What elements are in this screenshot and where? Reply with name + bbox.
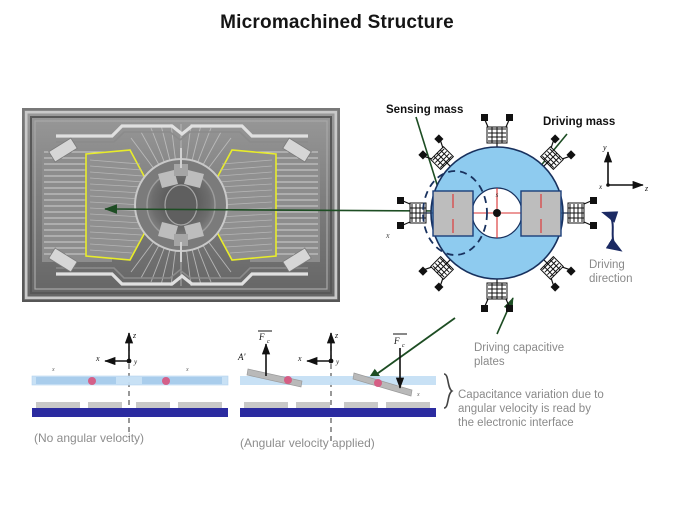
label-sensing-mass: Sensing mass	[386, 104, 463, 116]
svg-text:x: x	[185, 367, 189, 373]
driving-mass-disk	[431, 147, 563, 279]
bl-substrate	[32, 408, 228, 417]
bl-mass-dot-left	[88, 377, 96, 385]
slide-canvas: Micromachined Structure	[0, 0, 674, 506]
svg-text:c: c	[402, 343, 405, 349]
br-axis-label-y: y	[335, 358, 340, 366]
point-label-a-prime: A'	[237, 352, 246, 362]
curly-brace	[444, 374, 452, 408]
label-driving-direction-line2: direction	[589, 272, 632, 286]
bl-axis-label-z: z	[132, 331, 137, 340]
sensing-mass-hub	[472, 188, 522, 238]
bl-axis-label-y: y	[133, 358, 138, 366]
force-label-left: F	[258, 332, 265, 342]
pointer-driving-mass	[529, 134, 567, 180]
page-title: Micromachined Structure	[0, 12, 674, 34]
force-label-right: F	[393, 336, 400, 346]
br-axis-label-z: z	[334, 331, 339, 340]
br-tilted-beam-right	[353, 373, 412, 396]
label-driving-direction: Driving direction	[589, 258, 632, 286]
capacitance-note-line3: the electronic interface	[458, 416, 604, 430]
label-driving-direction-line1: Driving	[589, 258, 632, 272]
force-vector-left: F c	[258, 331, 272, 376]
bl-electrode-pads	[36, 402, 222, 408]
caption-angular-velocity-applied: (Angular velocity applied)	[240, 436, 375, 450]
diagram-no-angular-velocity: z x y x x	[32, 331, 228, 437]
axis-marker-x: x	[385, 231, 390, 240]
caption-no-angular-velocity: (No angular velocity)	[34, 431, 144, 445]
br-axis-label-x: x	[297, 354, 302, 363]
force-vector-right: F c	[393, 334, 407, 388]
label-capacitance-note: Capacitance variation due to angular vel…	[458, 388, 604, 430]
br-substrate	[240, 408, 436, 417]
br-mass-dot-right	[374, 379, 382, 387]
label-driving-plates-line1: Driving capacitive	[474, 341, 564, 355]
svg-text:s: s	[496, 191, 499, 199]
capacitive-plate-right	[521, 191, 561, 236]
axis-triad-structure: y z x	[598, 143, 649, 193]
pointer-capacitance-to-beam	[367, 318, 455, 381]
bl-mass-dot-right	[162, 377, 170, 385]
capacitive-plate-left	[433, 191, 473, 236]
sensing-mass-highlight	[423, 171, 487, 255]
micromachined-sem-photo	[22, 108, 340, 302]
axis-label-y: y	[602, 143, 607, 152]
label-driving-plates-line2: plates	[474, 355, 564, 369]
label-driving-capacitive-plates: Driving capacitive plates	[474, 341, 564, 369]
pointer-sensing-mass	[416, 117, 444, 207]
axis-label-z: z	[644, 184, 649, 193]
pointer-driving-capacitive-plates	[497, 298, 513, 334]
svg-text:x: x	[51, 367, 55, 373]
label-driving-mass: Driving mass	[543, 116, 615, 128]
driving-direction-arrow	[604, 213, 620, 250]
capacitance-note-line1: Capacitance variation due to	[458, 388, 604, 402]
spring-anchor-group	[397, 114, 597, 312]
micromachined-disk-diagram: s x	[385, 114, 597, 312]
svg-text:x: x	[416, 392, 420, 398]
capacitance-note-line2: angular velocity is read by	[458, 402, 604, 416]
br-electrode-pads	[244, 402, 430, 408]
br-mass-dot-left	[284, 376, 292, 384]
bl-axis-label-x: x	[95, 354, 100, 363]
diagram-angular-velocity-applied: z x y F c F	[237, 331, 436, 442]
svg-text:c: c	[267, 339, 270, 345]
br-tilted-beam-left	[247, 369, 302, 387]
axis-label-x-origin: x	[598, 183, 603, 191]
